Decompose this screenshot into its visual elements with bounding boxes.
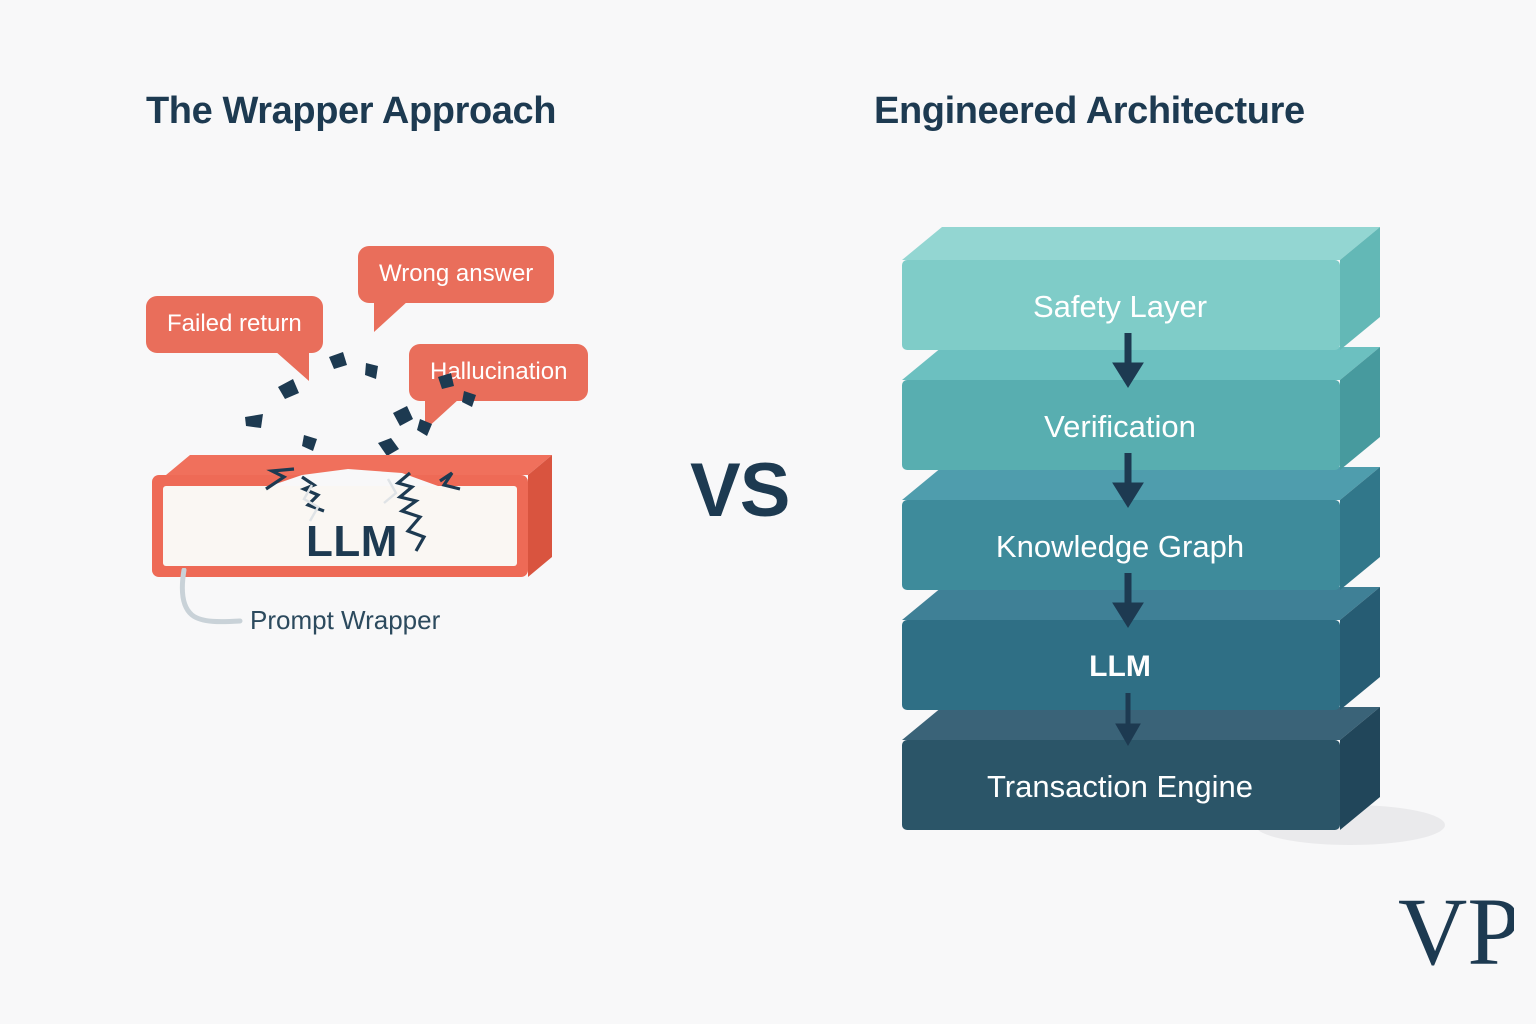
prompt-wrapper-annotation: Prompt Wrapper (250, 605, 440, 636)
architecture-stack-graphic (880, 225, 1440, 850)
left-panel-title: The Wrapper Approach (146, 90, 556, 133)
vp-monogram-text: VP (1398, 890, 1514, 980)
error-bubble-failed-return: Failed return (146, 296, 323, 353)
architecture-stack: Safety Layer Verification Knowledge Grap… (880, 225, 1440, 850)
error-bubble-text: Failed return (167, 310, 302, 337)
llm-block-inner-panel (163, 486, 517, 566)
stack-layer-transaction-engine (902, 707, 1380, 830)
stack-layer-safety (902, 227, 1380, 350)
diagram-canvas: The Wrapper Approach Engineered Architec… (0, 0, 1536, 1024)
broken-llm-block-graphic (152, 455, 552, 585)
vp-monogram-logo: VP (1398, 890, 1514, 980)
error-bubble-wrong-answer: Wrong answer (358, 246, 554, 303)
llm-block-side-face (528, 455, 552, 577)
error-bubble-text: Wrong answer (379, 260, 533, 287)
versus-label: VS (690, 447, 789, 534)
speech-tail-icon (275, 351, 309, 381)
error-bubble-hallucination: Hallucination (409, 344, 588, 401)
broken-llm-block: LLM (152, 455, 552, 585)
right-panel-title: Engineered Architecture (874, 90, 1305, 133)
speech-tail-icon (374, 301, 408, 332)
